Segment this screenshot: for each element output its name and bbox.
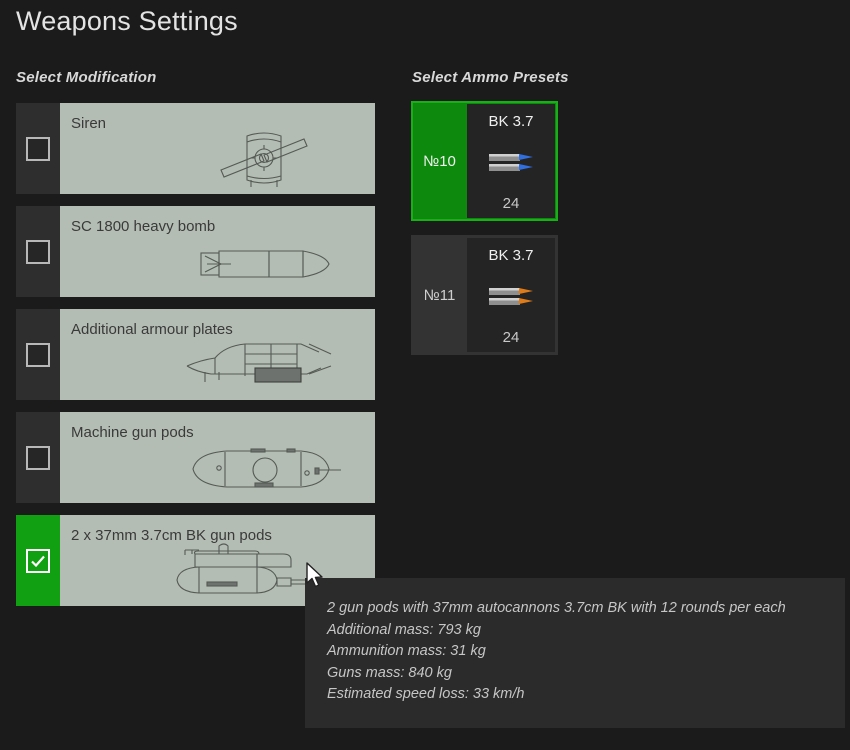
weapons-settings-screen: Weapons Settings Select Modification Sel… xyxy=(0,0,850,750)
select-modification-label: Select Modification xyxy=(16,69,157,86)
modification-checkbox-cell-mg-pods[interactable] xyxy=(16,412,60,503)
checkbox-sc1800[interactable] xyxy=(26,240,50,264)
machine-gun-pod-icon xyxy=(159,435,369,501)
tooltip-line: Guns mass: 840 kg xyxy=(327,663,823,685)
bullet-icon xyxy=(489,298,533,305)
bullet-icon xyxy=(489,288,533,295)
ammo-preset-name: BK 3.7 xyxy=(488,247,533,264)
modification-row-siren[interactable]: Siren xyxy=(16,103,375,194)
modification-name: Siren xyxy=(71,115,106,132)
ammo-preset-card-10[interactable]: №10 BK 3.7 24 xyxy=(411,101,558,221)
checkbox-siren[interactable] xyxy=(26,137,50,161)
mouse-cursor-icon xyxy=(305,562,325,590)
bullet-icon xyxy=(489,164,533,171)
modification-checkbox-cell-armour[interactable] xyxy=(16,309,60,400)
ammo-preset-card-11[interactable]: №11 BK 3.7 24 xyxy=(411,235,558,355)
ammo-preset-index: №10 xyxy=(413,103,466,219)
check-icon xyxy=(30,553,46,569)
modification-content-siren[interactable]: Siren xyxy=(60,103,375,194)
bullet-icon xyxy=(489,154,533,161)
modification-list: Siren xyxy=(16,103,375,618)
ammo-preset-tile-10[interactable]: BK 3.7 24 xyxy=(467,104,555,218)
tooltip-line: Additional mass: 793 kg xyxy=(327,620,823,642)
ammo-preset-name: BK 3.7 xyxy=(488,113,533,130)
ammo-preset-index: №11 xyxy=(413,237,466,353)
modification-content-armour[interactable]: Additional armour plates xyxy=(60,309,375,400)
page-title: Weapons Settings xyxy=(16,6,238,37)
tooltip-line: Estimated speed loss: 33 km/h xyxy=(327,684,823,706)
select-ammo-presets-label: Select Ammo Presets xyxy=(412,69,569,86)
modification-checkbox-cell-sc1800[interactable] xyxy=(16,206,60,297)
ammo-belt-icon xyxy=(489,288,533,305)
checkbox-armour-plates[interactable] xyxy=(26,343,50,367)
ammo-belt-icon xyxy=(489,154,533,171)
ammo-preset-list: №10 BK 3.7 24 №11 BK 3.7 24 xyxy=(411,101,558,369)
modification-checkbox-cell-bk-gun-pods[interactable] xyxy=(16,515,60,606)
modification-row-additional-armour-plates[interactable]: Additional armour plates xyxy=(16,309,375,400)
modification-tooltip: 2 gun pods with 37mm autocannons 3.7cm B… xyxy=(305,578,845,728)
modification-content-mg-pods[interactable]: Machine gun pods xyxy=(60,412,375,503)
modification-row-machine-gun-pods[interactable]: Machine gun pods xyxy=(16,412,375,503)
modification-row-sc1800-heavy-bomb[interactable]: SC 1800 heavy bomb xyxy=(16,206,375,297)
tooltip-line: 2 gun pods with 37mm autocannons 3.7cm B… xyxy=(327,598,823,620)
bomb-icon xyxy=(159,229,369,295)
ammo-preset-tile-11[interactable]: BK 3.7 24 xyxy=(467,238,555,352)
modification-content-sc1800[interactable]: SC 1800 heavy bomb xyxy=(60,206,375,297)
ammo-preset-count: 24 xyxy=(503,195,520,212)
checkbox-bk-gun-pods[interactable] xyxy=(26,549,50,573)
modification-checkbox-cell-siren[interactable] xyxy=(16,103,60,194)
tooltip-line: Ammunition mass: 31 kg xyxy=(327,641,823,663)
armour-plates-icon xyxy=(159,332,369,398)
ammo-preset-count: 24 xyxy=(503,329,520,346)
siren-propeller-icon xyxy=(159,126,369,192)
checkbox-machine-gun-pods[interactable] xyxy=(26,446,50,470)
